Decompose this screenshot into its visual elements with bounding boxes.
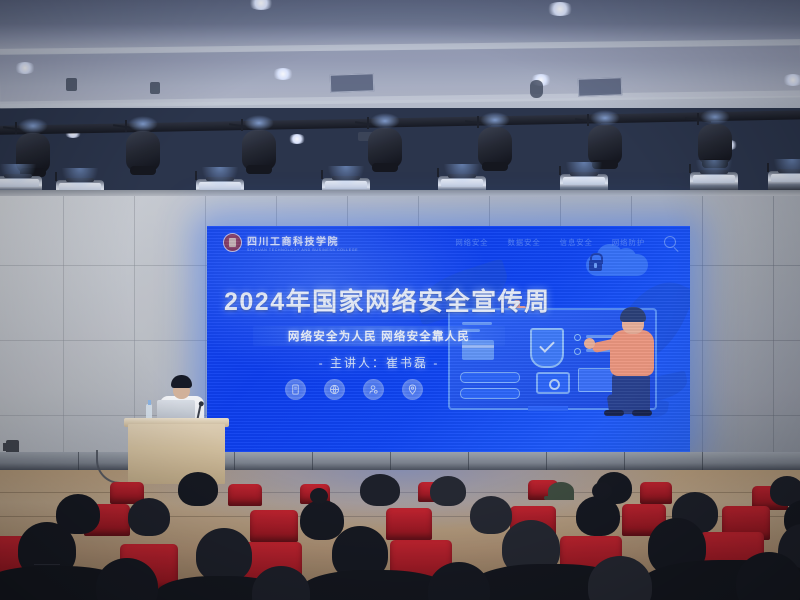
ceiling-downlight bbox=[782, 74, 800, 86]
slide-header: 四川工商科技学院 SICHUAN TECHNOLOGY AND BUSINESS… bbox=[207, 226, 690, 258]
shield-check-icon bbox=[530, 328, 564, 368]
person-shoe bbox=[604, 410, 624, 416]
institution-logo: 四川工商科技学院 SICHUAN TECHNOLOGY AND BUSINESS… bbox=[223, 233, 358, 252]
ceiling-speaker bbox=[530, 80, 543, 98]
person-hair bbox=[620, 307, 646, 322]
presenter-hair bbox=[171, 375, 192, 388]
audience-head bbox=[128, 498, 170, 536]
ceiling bbox=[0, 0, 800, 108]
nav-item-1[interactable]: 数据安全 bbox=[507, 237, 540, 248]
audience-area bbox=[0, 470, 800, 600]
audience-head bbox=[576, 496, 620, 536]
ceiling-downlight bbox=[248, 0, 274, 10]
nav-item-0[interactable]: 网络安全 bbox=[455, 237, 488, 248]
unlocked-padlock-icon bbox=[589, 260, 602, 271]
audience-head bbox=[430, 476, 466, 506]
audience-head bbox=[360, 474, 400, 506]
slide-slogan: 网络安全为人民 网络安全靠人民 bbox=[253, 326, 505, 346]
user-search-icon bbox=[363, 379, 384, 400]
audience-hair-bun bbox=[310, 488, 328, 504]
audience-head bbox=[178, 472, 218, 506]
ceiling-fixture bbox=[150, 82, 160, 94]
lighting-truss-upper bbox=[0, 110, 800, 135]
ceiling-downlight bbox=[288, 134, 306, 144]
ceiling-vent bbox=[330, 73, 375, 93]
nav-item-3[interactable]: 网络防护 bbox=[612, 237, 645, 248]
list-bullet bbox=[574, 334, 581, 341]
audience-head bbox=[470, 496, 512, 534]
ceiling-downlight bbox=[14, 62, 36, 74]
location-pin-icon bbox=[402, 379, 423, 400]
ceiling-fixture bbox=[66, 78, 77, 91]
seat bbox=[640, 482, 672, 504]
slide-speaker: - 主讲人：崔书磊 - bbox=[253, 354, 505, 371]
slide-title: 2024年国家网络安全宣传周 bbox=[224, 282, 539, 318]
nav-item-2[interactable]: 信息安全 bbox=[560, 237, 593, 248]
slide-badges bbox=[285, 379, 423, 400]
illustrated-person bbox=[606, 310, 666, 414]
text-line bbox=[462, 322, 492, 325]
audience-hair-bun bbox=[592, 482, 612, 500]
mobile-document-icon bbox=[285, 379, 306, 400]
institution-name: 四川工商科技学院 bbox=[247, 233, 358, 248]
ceiling-vent bbox=[578, 77, 623, 97]
audience-head bbox=[196, 528, 252, 582]
security-camera-icon bbox=[536, 372, 570, 394]
lecture-hall-photo: 四川工商科技学院 SICHUAN TECHNOLOGY AND BUSINESS… bbox=[0, 0, 800, 600]
monitor-stand bbox=[528, 406, 568, 411]
search-icon[interactable] bbox=[664, 236, 676, 248]
progress-bar bbox=[460, 388, 520, 399]
person-hand bbox=[584, 338, 595, 349]
globe-icon bbox=[324, 379, 345, 400]
led-presentation-screen: 四川工商科技学院 SICHUAN TECHNOLOGY AND BUSINESS… bbox=[207, 226, 690, 452]
slide-nav: 网络安全 数据安全 信息安全 网络防护 bbox=[455, 236, 676, 248]
ceiling-downlight bbox=[272, 68, 294, 80]
progress-bar bbox=[460, 372, 520, 383]
audience-cap bbox=[548, 482, 574, 500]
seat bbox=[228, 484, 262, 506]
list-bullet bbox=[574, 348, 581, 355]
audience-head bbox=[300, 500, 344, 540]
seat bbox=[386, 508, 432, 540]
institution-name-en: SICHUAN TECHNOLOGY AND BUSINESS COLLEGE bbox=[247, 248, 358, 252]
ceiling-downlight bbox=[546, 2, 574, 16]
crest-icon bbox=[223, 233, 242, 252]
person-shoe bbox=[632, 410, 652, 416]
seat bbox=[250, 510, 298, 542]
